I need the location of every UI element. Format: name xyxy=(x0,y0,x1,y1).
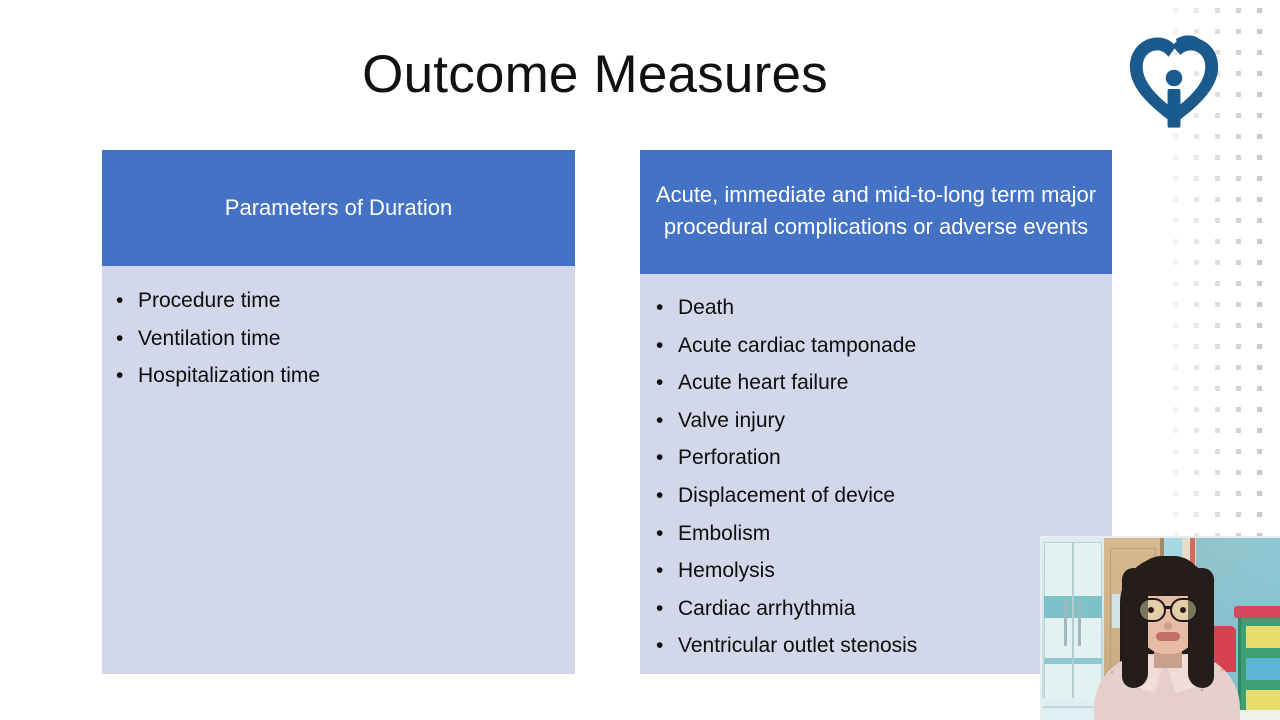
shelf-top xyxy=(1234,606,1280,618)
cabinet-handle-right xyxy=(1078,600,1081,646)
list-item: Displacement of device xyxy=(640,477,1112,515)
shelf-drawer-2 xyxy=(1244,656,1280,682)
presenter-eye-right xyxy=(1180,607,1186,613)
presenter-eye-left xyxy=(1148,607,1154,613)
list-item: Valve injury xyxy=(640,402,1112,440)
cabinet-door-seam xyxy=(1072,542,1074,702)
presenter-hair-right xyxy=(1188,568,1214,688)
card-body-duration: Procedure time Ventilation time Hospital… xyxy=(102,266,575,674)
list-item: Acute cardiac tamponade xyxy=(640,327,1112,365)
list-item: Death xyxy=(640,289,1112,327)
list-item: Ventilation time xyxy=(102,320,575,358)
presenter-eyebrow-left xyxy=(1143,592,1163,595)
duration-bullet-list: Procedure time Ventilation time Hospital… xyxy=(102,282,575,395)
shelf-drawer-1 xyxy=(1244,624,1280,650)
card-parameters-of-duration: Parameters of Duration Procedure time Ve… xyxy=(102,150,575,674)
presenter-lips xyxy=(1156,632,1180,641)
webcam-scene xyxy=(1042,538,1280,720)
list-item: Perforation xyxy=(640,439,1112,477)
card-header-duration: Parameters of Duration xyxy=(102,150,575,266)
list-item: Hospitalization time xyxy=(102,357,575,395)
cabinet-handle-left xyxy=(1064,600,1067,646)
presenter-nose xyxy=(1164,622,1172,630)
presenter-glasses-bridge xyxy=(1165,606,1172,609)
presenter-webcam-feed[interactable] xyxy=(1040,536,1280,720)
presenter-hair-left xyxy=(1122,568,1148,688)
list-item: Procedure time xyxy=(102,282,575,320)
page-title: Outcome Measures xyxy=(0,46,1190,104)
card-header-complications: Acute, immediate and mid-to-long term ma… xyxy=(640,150,1112,274)
presenter-eyebrow-right xyxy=(1173,592,1193,595)
list-item: Acute heart failure xyxy=(640,364,1112,402)
